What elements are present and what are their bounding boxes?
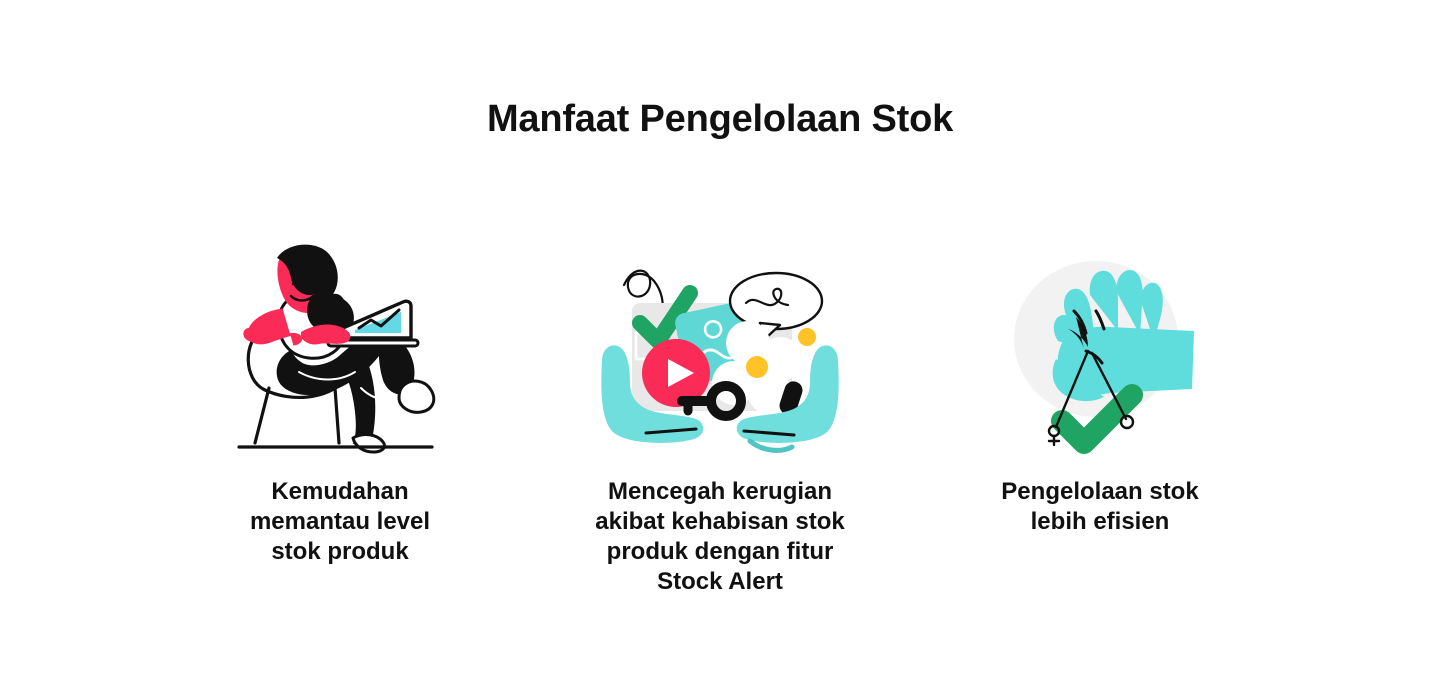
benefit-caption-2: Mencegah kerugian akibat kehabisan stok … [560, 477, 880, 597]
illustration-hands-media-collage [590, 225, 850, 455]
hands-collage-illustration [600, 255, 840, 455]
benefit-card-3: Pengelolaan stok lebih efisien [910, 225, 1290, 537]
benefit-caption-3: Pengelolaan stok lebih efisien [950, 477, 1250, 537]
benefit-card-1: Kemudahan memantau level stok produk [150, 225, 530, 567]
hand-checkmark-illustration [1000, 255, 1200, 455]
benefit-caption-1: Kemudahan memantau level stok produk [190, 477, 490, 567]
page-title: Manfaat Pengelolaan Stok [0, 98, 1440, 141]
illustration-woman-with-laptop [210, 225, 470, 455]
turquoise-hand [1053, 270, 1194, 401]
flower-center [746, 356, 768, 378]
woman-laptop-illustration [235, 240, 445, 455]
benefit-card-row: Kemudahan memantau level stok produk [0, 225, 1440, 597]
benefit-card-2: Mencegah kerugian akibat kehabisan stok … [530, 225, 910, 597]
slide-canvas: Manfaat Pengelolaan Stok [0, 0, 1440, 688]
illustration-hand-holding-checkmark [970, 225, 1230, 455]
yellow-dot [798, 328, 816, 346]
